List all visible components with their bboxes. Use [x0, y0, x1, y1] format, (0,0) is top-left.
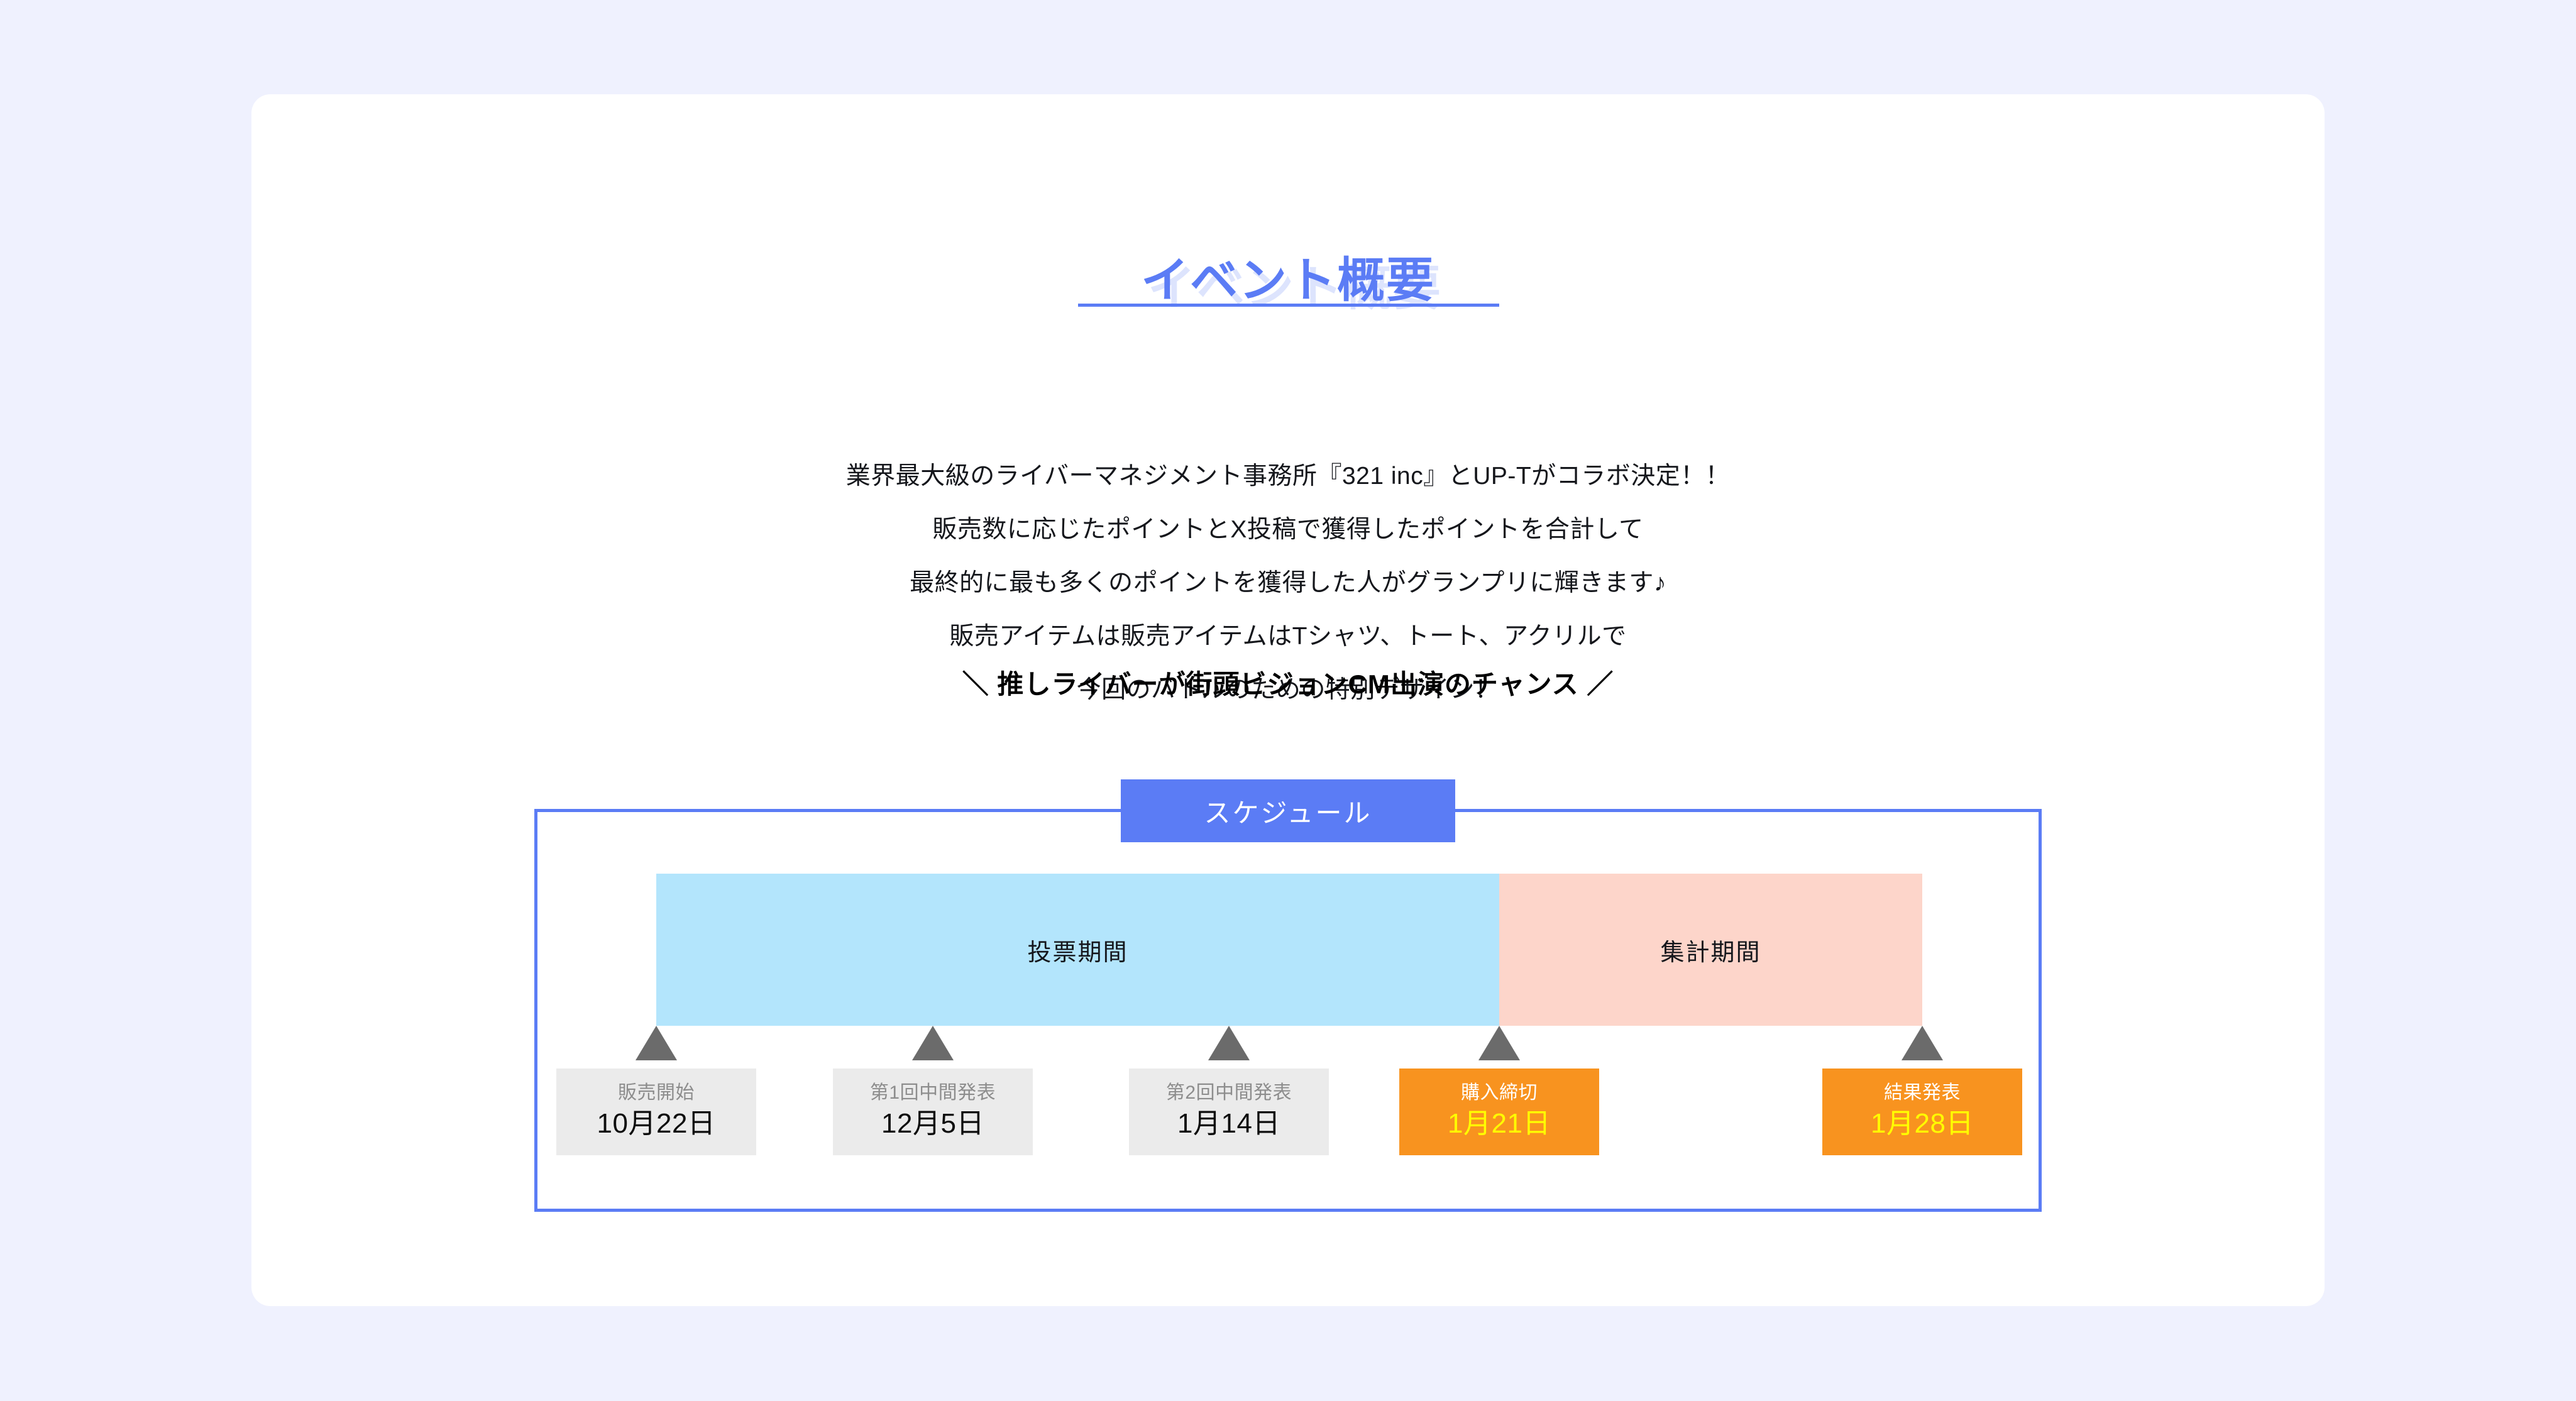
- lead-line-2: 販売数に応じたポイントとX投稿で獲得したポイントを合計して: [251, 503, 2325, 556]
- milestone-date: 1月21日: [1413, 1107, 1585, 1141]
- page-title-wrap: イベント概要: [251, 255, 2325, 307]
- lead-line-3: 最終的に最も多くのポイントを獲得した人がグランプリに輝きます♪: [251, 556, 2325, 610]
- milestone-label: 第2回中間発表: [1143, 1081, 1315, 1105]
- tagline: ＼ 推しライバーが街頭ビジョンCM出演のチャンス ／: [251, 663, 2325, 701]
- milestone-label: 結果発表: [1836, 1081, 2008, 1105]
- milestone-label: 第1回中間発表: [847, 1081, 1019, 1105]
- triangle-marker-icon: [636, 1026, 677, 1060]
- milestone-label: 購入締切: [1413, 1081, 1585, 1105]
- milestone-chip: 結果発表 1月28日: [1822, 1069, 2022, 1155]
- triangle-marker-icon: [1478, 1026, 1520, 1060]
- content-card: イベント概要 業界最大級のライバーマネジメント事務所『321 inc』とUP-T…: [251, 94, 2325, 1306]
- milestone-chip: 購入締切 1月21日: [1399, 1069, 1599, 1155]
- schedule-panel-title: スケジュール: [1121, 779, 1455, 842]
- period-bar-voting: 投票期間: [656, 874, 1499, 1026]
- milestone-sale-start: 販売開始 10月22日: [556, 1026, 756, 1155]
- lead-line-4: 販売アイテムは販売アイテムはTシャツ、トート、アクリルで: [251, 610, 2325, 663]
- milestone-purchase-deadline: 購入締切 1月21日: [1399, 1026, 1599, 1155]
- event-overview-page: { "theme": { "page_background": "#eff1fe…: [0, 0, 2576, 1401]
- schedule-period-bars: 投票期間 集計期間: [656, 874, 1922, 1026]
- milestone-date: 1月14日: [1143, 1107, 1315, 1141]
- milestone-date: 12月5日: [847, 1107, 1019, 1141]
- triangle-marker-icon: [912, 1026, 954, 1060]
- period-bar-tallying-label: 集計期間: [1660, 933, 1761, 967]
- milestone-chip: 第1回中間発表 12月5日: [833, 1069, 1033, 1155]
- milestone-chip: 第2回中間発表 1月14日: [1129, 1069, 1329, 1155]
- milestone-interim-1: 第1回中間発表 12月5日: [833, 1026, 1033, 1155]
- milestone-chip: 販売開始 10月22日: [556, 1069, 756, 1155]
- milestone-date: 10月22日: [570, 1107, 742, 1141]
- title-underline-divider: [1078, 304, 1499, 307]
- milestone-results-announcement: 結果発表 1月28日: [1822, 1026, 2022, 1155]
- milestone-interim-2: 第2回中間発表 1月14日: [1129, 1026, 1329, 1155]
- triangle-marker-icon: [1902, 1026, 1943, 1060]
- triangle-marker-icon: [1208, 1026, 1250, 1060]
- milestone-label: 販売開始: [570, 1081, 742, 1105]
- milestone-date: 1月28日: [1836, 1107, 2008, 1141]
- period-bar-voting-label: 投票期間: [1027, 933, 1128, 967]
- page-title: イベント概要: [1141, 255, 1435, 307]
- lead-line-1: 業界最大級のライバーマネジメント事務所『321 inc』とUP-Tがコラボ決定！…: [251, 449, 2325, 503]
- period-bar-tallying: 集計期間: [1499, 874, 1922, 1026]
- schedule-milestones: 販売開始 10月22日 第1回中間発表 12月5日 第2回中間発表 1月14日 …: [251, 1026, 2325, 1214]
